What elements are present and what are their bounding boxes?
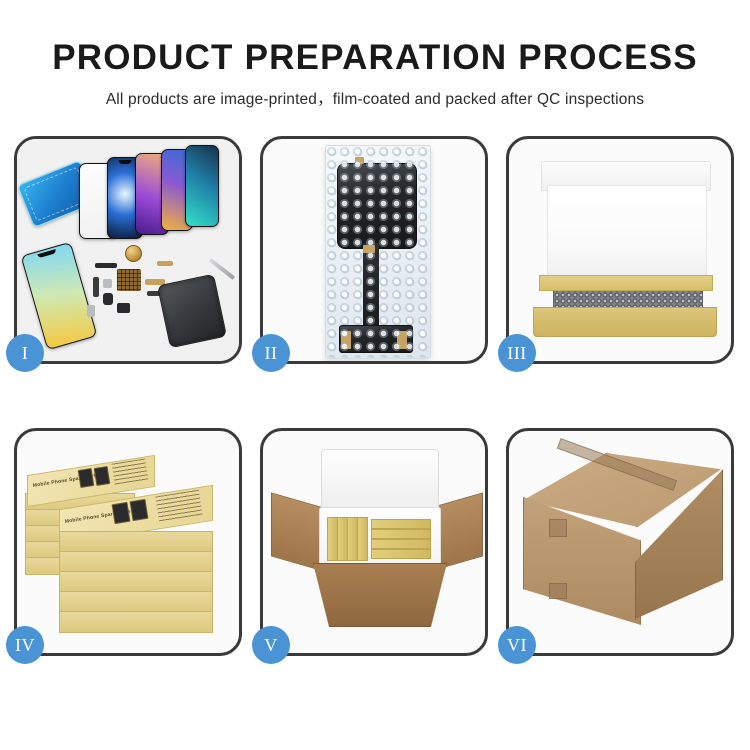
- step-badge-1: I: [6, 334, 44, 372]
- carton-loading-illustration: [263, 431, 485, 653]
- step-image-2: [263, 139, 485, 361]
- box-swatch-lower-b: [130, 499, 149, 521]
- product-assortment-illustration: [17, 139, 239, 361]
- stacked-boxes-illustration: Mobile Phone Spare Parts Mobile Phone Sp…: [17, 431, 239, 653]
- sealed-carton-illustration: [509, 431, 731, 653]
- foam-sheet-icon: [547, 185, 707, 285]
- mailer-box-inner-icon: [539, 275, 713, 291]
- stacked-box-front-2: [59, 571, 213, 593]
- gold-connector-mid-icon: [363, 245, 375, 253]
- camera-module-icon: [103, 293, 113, 305]
- grid-component-icon: [117, 269, 141, 291]
- step-badge-2: II: [252, 334, 290, 372]
- phone-display-teal-icon: [185, 145, 219, 227]
- step-badge-5: V: [252, 626, 290, 664]
- step-badge-3: III: [498, 334, 536, 372]
- process-steps-grid: I II: [14, 136, 736, 656]
- carton-tape-tab-upper-icon: [549, 519, 567, 537]
- bubble-wrapping-illustration: [263, 139, 485, 361]
- packed-box-6: [371, 529, 431, 539]
- step-panel-3[interactable]: III: [506, 136, 734, 364]
- packed-box-8: [371, 549, 431, 559]
- screen-assembly-icon: [337, 163, 417, 249]
- page-title: PRODUCT PREPARATION PROCESS: [0, 40, 750, 77]
- stacked-box-front-0: [59, 611, 213, 633]
- foam-cooler-lid-icon: [321, 449, 439, 513]
- step-badge-4: IV: [6, 626, 44, 664]
- carton-front-panel-icon: [313, 563, 447, 627]
- gold-tab-right-icon: [397, 331, 407, 349]
- step-badge-6: VI: [498, 626, 536, 664]
- small-bracket-icon: [103, 279, 112, 288]
- inner-box-packing-illustration: [509, 139, 731, 361]
- step-image-4: Mobile Phone Spare Parts Mobile Phone Sp…: [17, 431, 239, 653]
- phone-housing-icon: [157, 274, 227, 349]
- sim-tray-icon: [87, 305, 95, 317]
- page-header: PRODUCT PREPARATION PROCESS All products…: [0, 0, 750, 109]
- carton-tape-tab-lower-icon: [549, 583, 567, 599]
- box-swatch-lower-a: [112, 502, 131, 524]
- step-panel-4[interactable]: Mobile Phone Spare Parts Mobile Phone Sp…: [14, 428, 242, 656]
- packed-box-4: [357, 517, 368, 561]
- stacked-box-front-1: [59, 591, 213, 613]
- step-image-5: [263, 431, 485, 653]
- speaker-coil-icon: [125, 245, 142, 262]
- stacked-box-front-4: [59, 531, 213, 553]
- part-strip-icon: [95, 263, 117, 268]
- step-image-3: [509, 139, 731, 361]
- flex-cable-strip-icon: [363, 243, 379, 333]
- step-panel-2[interactable]: II: [260, 136, 488, 364]
- gold-tab-top-icon: [355, 157, 364, 164]
- stacked-box-front-3: [59, 551, 213, 573]
- packed-box-5: [371, 519, 431, 529]
- box-swatch-upper-b: [94, 466, 111, 486]
- step-image-1: [17, 139, 239, 361]
- packed-box-7: [371, 539, 431, 549]
- gold-tab-left-icon: [341, 331, 351, 349]
- earpiece-icon: [117, 303, 130, 313]
- flex-cable-icon: [93, 277, 99, 297]
- part-connector-icon: [157, 261, 173, 266]
- step-image-6: [509, 431, 731, 653]
- phone-tilted-icon: [21, 242, 98, 351]
- step-panel-5[interactable]: V: [260, 428, 488, 656]
- step-panel-1[interactable]: I: [14, 136, 242, 364]
- box-swatch-upper-a: [78, 468, 95, 488]
- mailer-box-front-icon: [533, 307, 717, 337]
- page-subtitle: All products are image-printed，film-coat…: [0, 87, 750, 109]
- step-panel-6[interactable]: VI: [506, 428, 734, 656]
